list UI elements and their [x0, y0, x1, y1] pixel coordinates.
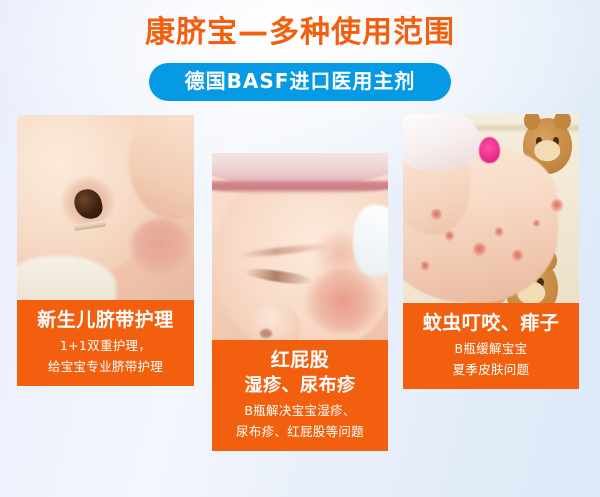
flower-print-icon	[479, 137, 500, 163]
card-caption: 红屁股 湿疹、尿布疹 B瓶解决宝宝湿疹、 尿布疹、红屁股等问题	[212, 340, 388, 451]
card-title: 蚊虫叮咬、痱子	[407, 311, 575, 336]
umbilical-stump-photo	[17, 115, 194, 300]
mosquito-bite-mark	[473, 243, 485, 256]
card-subtitle-line-2: 给宝宝专业脐带护理	[21, 357, 190, 376]
feature-card-bite: 蚊虫叮咬、痱子 B瓶缓解宝宝 夏季皮肤问题	[403, 114, 579, 389]
cheek-rash-shape	[304, 269, 381, 333]
card-caption: 蚊虫叮咬、痱子 B瓶缓解宝宝 夏季皮肤问题	[403, 303, 579, 389]
photo-layer	[212, 153, 388, 340]
mosquito-bite-mark	[551, 199, 563, 212]
photo-layer	[17, 115, 194, 300]
card-title-line-2: 湿疹、尿布疹	[216, 373, 384, 398]
mosquito-bite-mark	[431, 209, 442, 220]
promo-poster: 康脐宝—多种使用范围 德国BASF进口医用主剂 新生儿脐带护理 1+1双重护理，…	[0, 0, 600, 497]
mosquito-bite-mark	[445, 231, 454, 240]
card-title: 新生儿脐带护理	[21, 308, 190, 333]
mosquito-bite-mark	[421, 261, 430, 270]
badge-container: 德国BASF进口医用主剂	[0, 63, 600, 101]
baby-face-eczema-photo	[212, 153, 388, 340]
nostril-shape	[260, 329, 272, 338]
bedding-highlight-shape	[353, 205, 388, 276]
feature-card-umbilical: 新生儿脐带护理 1+1双重护理， 给宝宝专业脐带护理	[17, 115, 194, 386]
sleeve-shape	[403, 114, 480, 171]
card-subtitle-line-2: 夏季皮肤问题	[407, 360, 575, 379]
card-subtitle-line-2: 尿布疹、红屁股等问题	[216, 422, 384, 441]
photo-layer	[403, 114, 579, 303]
card-subtitle-line-1: B瓶缓解宝宝	[407, 339, 575, 358]
card-caption: 新生儿脐带护理 1+1双重护理， 给宝宝专业脐带护理	[17, 300, 194, 386]
feature-card-rash: 红屁股 湿疹、尿布疹 B瓶解决宝宝湿疹、 尿布疹、红屁股等问题	[212, 153, 388, 451]
skin-blush-shape	[130, 219, 190, 275]
card-title-line-1: 红屁股	[216, 348, 384, 373]
mosquito-bite-mark	[512, 250, 523, 261]
status-badge: 德国BASF进口医用主剂	[149, 63, 452, 101]
card-subtitle-line-1: 1+1双重护理，	[21, 336, 190, 355]
card-subtitle-line-1: B瓶解决宝宝湿疹、	[216, 401, 384, 420]
baby-arm-bites-photo	[403, 114, 579, 303]
bear-muzzle	[535, 140, 561, 162]
page-title: 康脐宝—多种使用范围	[0, 14, 600, 52]
mosquito-bite-mark	[495, 227, 504, 236]
